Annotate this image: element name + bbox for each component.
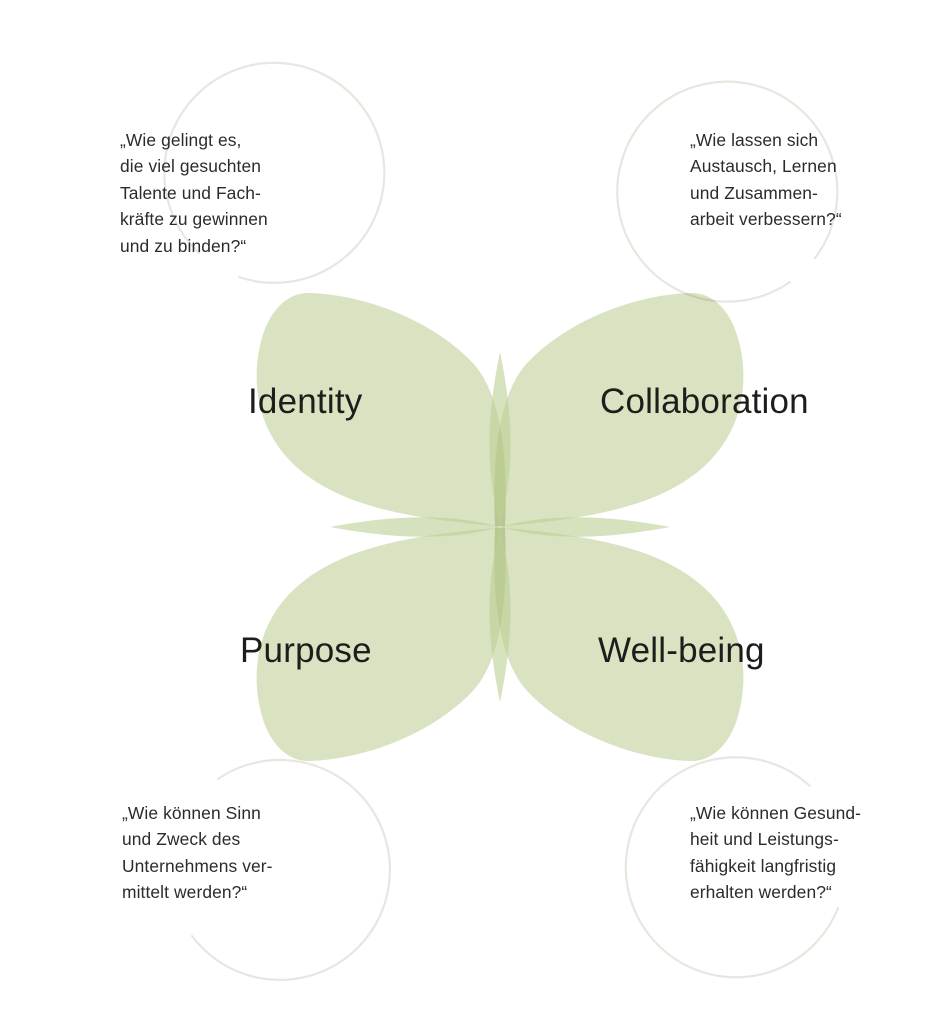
- quote-text-well-being: „Wie können Gesund- heit und Leistungs- …: [690, 800, 861, 906]
- quote-text-identity: „Wie gelingt es, die viel gesuchten Tale…: [120, 127, 268, 259]
- petal-label-purpose: Purpose: [240, 631, 372, 671]
- petal-label-well-being: Well-being: [598, 631, 765, 671]
- petal-label-collaboration: Collaboration: [600, 382, 809, 422]
- quote-text-purpose: „Wie können Sinn und Zweck des Unternehm…: [122, 800, 273, 906]
- diagram-canvas: Identity Collaboration Purpose Well-bein…: [0, 0, 931, 1024]
- petal-label-identity: Identity: [248, 382, 362, 422]
- quote-text-collaboration: „Wie lassen sich Austausch, Lernen und Z…: [690, 127, 842, 233]
